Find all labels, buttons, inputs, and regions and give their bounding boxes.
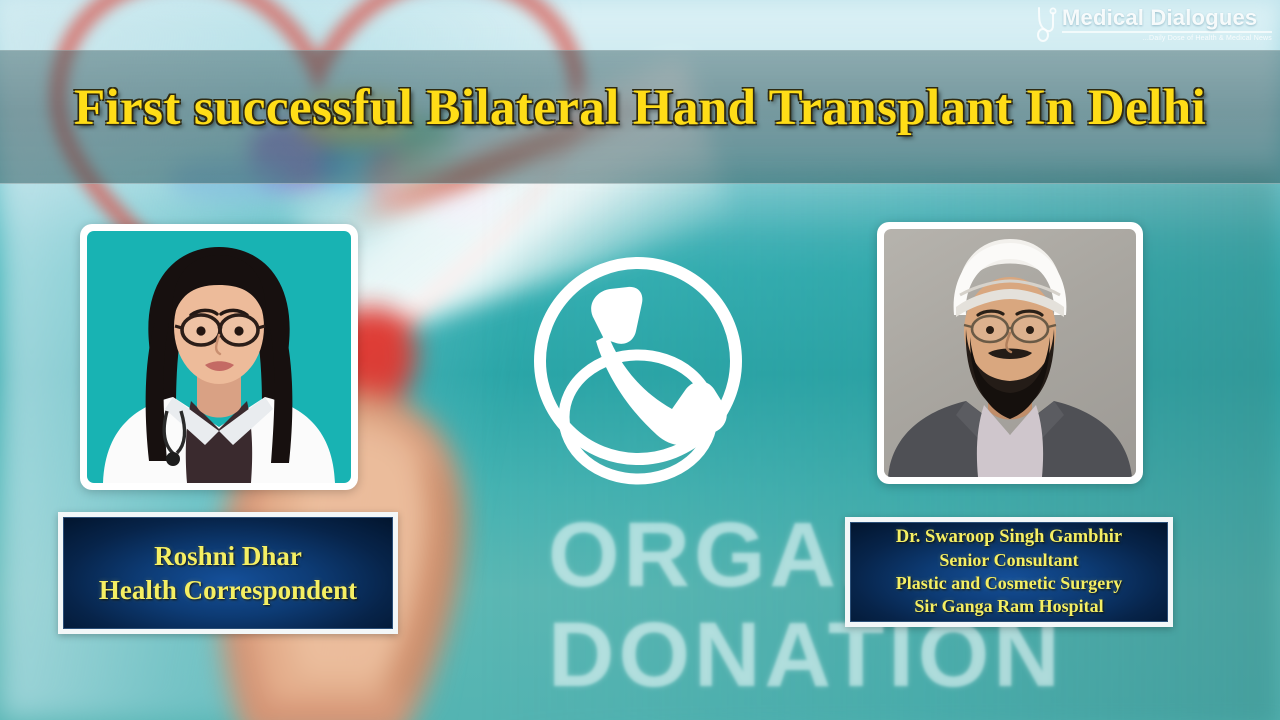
brand-name: Medical Dialogues: [1062, 6, 1272, 30]
left-portrait-illustration: [87, 231, 351, 483]
right-guest-hospital: Sir Ganga Ram Hospital: [914, 595, 1103, 618]
right-guest-name: Dr. Swaroop Singh Gambhir: [896, 526, 1122, 549]
right-guest-photo-frame: [877, 222, 1143, 484]
left-guest-name-plate: Roshni Dhar Health Correspondent: [58, 512, 398, 634]
right-guest-name-plate: Dr. Swaroop Singh Gambhir Senior Consult…: [845, 517, 1173, 627]
brand-logo-text: Medical Dialogues ...Daily Dose of Healt…: [1062, 6, 1272, 43]
left-plate-body: Roshni Dhar Health Correspondent: [63, 517, 393, 629]
phone-handset-in-circle-icon: [524, 249, 752, 493]
right-plate-body: Dr. Swaroop Singh Gambhir Senior Consult…: [850, 522, 1168, 622]
left-guest-role: Health Correspondent: [99, 573, 357, 607]
left-guest-photo-frame: [80, 224, 358, 490]
video-thumbnail-stage: ORGAN DONATION First successful Bilatera…: [0, 0, 1280, 720]
left-guest-photo: [87, 231, 351, 483]
brand-logo[interactable]: Medical Dialogues ...Daily Dose of Healt…: [1034, 2, 1272, 46]
brand-divider: [1062, 31, 1272, 33]
right-guest-photo: [884, 229, 1136, 477]
left-guest-name: Roshni Dhar: [154, 539, 302, 573]
brand-tagline: ...Daily Dose of Health & Medical News: [1062, 34, 1272, 43]
page-title: First successful Bilateral Hand Transpla…: [0, 78, 1280, 138]
right-portrait-illustration: [884, 229, 1136, 477]
right-guest-department: Plastic and Cosmetic Surgery: [896, 572, 1122, 595]
stethoscope-icon: [1034, 5, 1060, 43]
right-guest-title: Senior Consultant: [939, 549, 1078, 572]
